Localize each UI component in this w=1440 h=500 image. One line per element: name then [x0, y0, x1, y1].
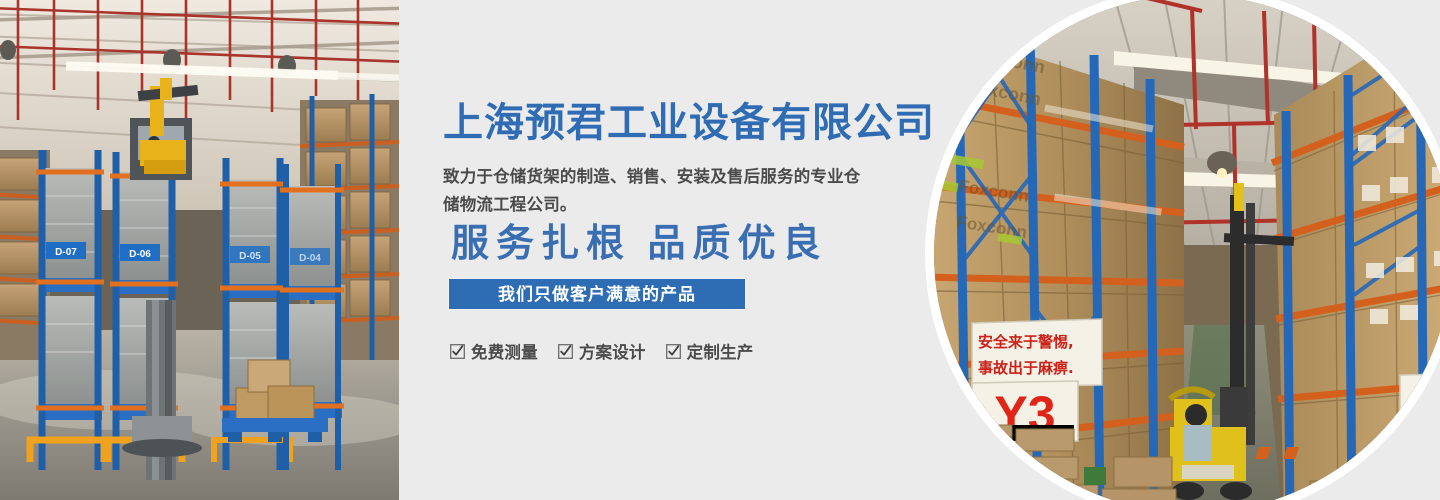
- checkbox-checked-icon: [450, 344, 465, 359]
- cta-banner[interactable]: 我们只做客户满意的产品: [448, 278, 746, 310]
- page-subtitle: 致力于仓储货架的制造、销售、安装及售后服务的专业仓储物流工程公司。: [443, 163, 863, 220]
- page-title: 上海预君工业设备有限公司: [443, 103, 935, 143]
- banner-content: 上海预君工业设备有限公司 致力于仓储货架的制造、销售、安装及售后服务的专业仓储物…: [443, 0, 943, 500]
- feature-label-1: 方案设计: [579, 339, 646, 363]
- right-photo-illustration: Foxconn Foxconn Foxconn Foxconn: [934, 0, 1440, 500]
- svg-text:事故出于麻痹.: 事故出于麻痹.: [978, 359, 1074, 377]
- right-warehouse-photo: Foxconn Foxconn Foxconn Foxconn: [934, 0, 1440, 500]
- hero-banner: D-07: [0, 0, 1440, 500]
- feature-label-0: 免费测量: [471, 339, 538, 363]
- left-warehouse-photo: D-07: [0, 0, 399, 500]
- slogan-text: 服务扎根 品质优良: [451, 225, 828, 263]
- feature-item-1: 方案设计: [558, 339, 646, 363]
- feature-label-2: 定制生产: [687, 339, 754, 363]
- left-photo-illustration: D-07: [0, 0, 399, 500]
- right-warehouse-photo-circle: Foxconn Foxconn Foxconn Foxconn: [925, 0, 1440, 500]
- cta-label: 我们只做客户满意的产品: [498, 286, 696, 303]
- checkbox-checked-icon: [558, 344, 573, 359]
- checkbox-checked-icon: [666, 344, 681, 359]
- feature-list: 免费测量 方案设计 定制生产: [450, 339, 753, 363]
- feature-item-2: 定制生产: [666, 339, 754, 363]
- svg-text:安全来于警惕,: 安全来于警惕,: [978, 333, 1074, 351]
- feature-item-0: 免费测量: [450, 339, 538, 363]
